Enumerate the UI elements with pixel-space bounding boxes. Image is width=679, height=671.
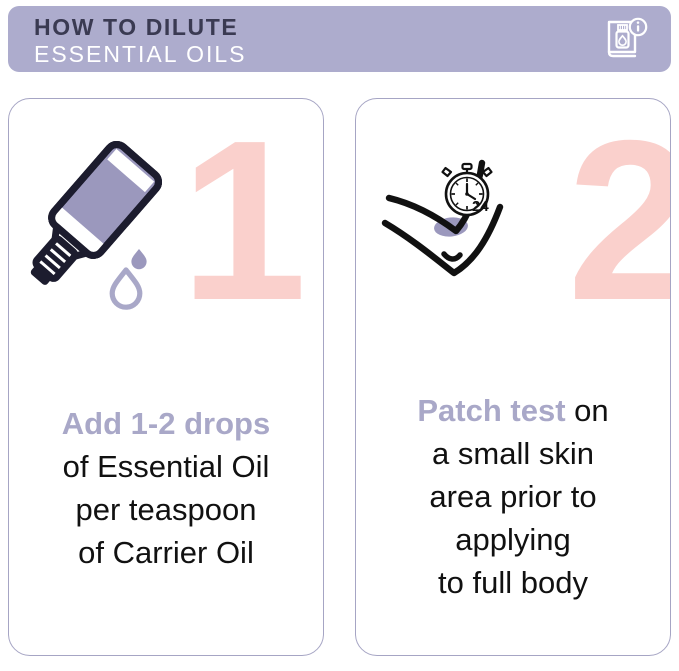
header-bar: HOW TO DILUTE ESSENTIAL OILS xyxy=(8,6,671,72)
step-2-caption-accent-tail: on xyxy=(566,393,609,428)
arm-patch-test-stopwatch-icon: 24 xyxy=(378,143,578,298)
bottle-info-icon xyxy=(603,16,649,62)
step-2-caption: Patch test on a small skin area prior to… xyxy=(356,389,670,604)
step-1-caption: Add 1-2 drops of Essential Oil per teasp… xyxy=(9,402,323,574)
step-1-caption-line-3: of Carrier Oil xyxy=(15,531,317,574)
step-2-caption-line-2: area prior to xyxy=(362,475,664,518)
page-subtitle: ESSENTIAL OILS xyxy=(34,40,247,68)
step-2-artwork: 2 xyxy=(356,99,670,399)
oil-bottle-dripping-icon xyxy=(27,137,187,327)
step-2-caption-line-3: applying xyxy=(362,518,664,561)
step-1-number: 1 xyxy=(180,107,301,335)
page-title: HOW TO DILUTE xyxy=(34,14,247,40)
step-1-caption-line-1: of Essential Oil xyxy=(15,445,317,488)
step-card-2[interactable]: 2 xyxy=(355,98,671,656)
step-2-caption-accent: Patch test xyxy=(417,393,565,428)
header-text-group: HOW TO DILUTE ESSENTIAL OILS xyxy=(34,14,247,68)
step-1-artwork: 1 xyxy=(9,99,323,399)
step-2-caption-line-4: to full body xyxy=(362,561,664,604)
stopwatch-icon: 24 xyxy=(443,164,492,215)
step-2-number: 2 xyxy=(567,107,671,335)
step-2-caption-line-1: a small skin xyxy=(362,432,664,475)
steps-container: 1 xyxy=(0,98,679,658)
stopwatch-label: 24 xyxy=(472,198,489,215)
infographic-page: HOW TO DILUTE ESSENTIAL OILS xyxy=(0,0,679,671)
step-1-caption-line-2: per teaspoon xyxy=(15,488,317,531)
step-card-1[interactable]: 1 xyxy=(8,98,324,656)
step-2-caption-first-line: Patch test on xyxy=(362,389,664,432)
step-1-caption-accent: Add 1-2 drops xyxy=(15,402,317,445)
